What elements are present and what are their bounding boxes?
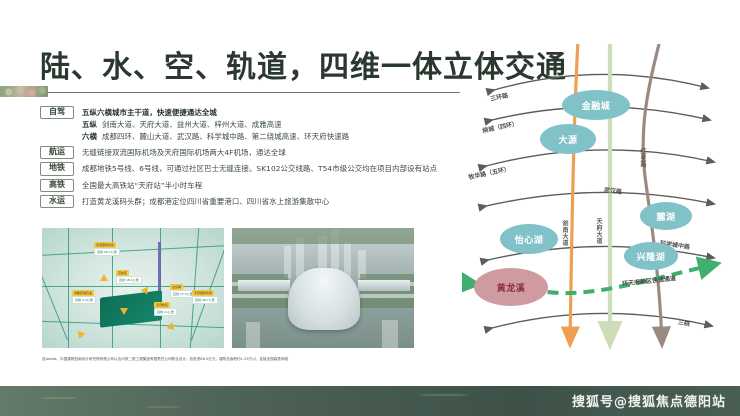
drive-line-2-lead: 五纵 [82, 120, 97, 129]
map-label-jiannan-dadao: 剑南大道 [560, 220, 569, 246]
map-label-hongxing-lu: 红星路 [638, 148, 647, 168]
hsr-line-1: 全国最大高铁站“天府站”半小时车程 [82, 180, 470, 192]
map-label-wuhan-road: 武汉路 [604, 185, 623, 196]
station-terminal-shape [288, 268, 360, 330]
info-row-drive: 自驾 五纵六横城市主干道，快速便捷通达全城 五纵剑南大道、天府大道、益州大道、梓… [40, 106, 470, 143]
tag-hsr: 高铁 [40, 179, 74, 192]
watermark-text: 搜狐号@搜狐焦点德阳站 [572, 391, 726, 410]
drive-line-2: 五纵剑南大道、天府大道、益州大道、梓州大道、成雅高速 [82, 119, 470, 131]
photo-traffic-map: 双流国际机场 直线 26.7公里 高新区 直线 18.1公里 龙泉驿 直线 17… [42, 228, 224, 348]
tag-drive: 自驾 [40, 106, 74, 119]
info-row-water: 水运 打造黄龙溪码头群；成都港定位四川省重要港口、四川省水上旅游集散中心 [40, 195, 470, 208]
decorative-strip [0, 86, 48, 97]
district-dayuan: 大源 [540, 124, 596, 154]
info-row-drive-text: 五纵六横城市主干道，快速便捷通达全城 五纵剑南大道、天府大道、益州大道、梓州大道… [82, 106, 470, 143]
tag-water: 水运 [40, 195, 74, 208]
info-row-hsr: 高铁 全国最大高铁站“天府站”半小时车程 [40, 179, 470, 192]
project-logo-mark [100, 290, 162, 328]
info-row-hsr-text: 全国最大高铁站“天府站”半小时车程 [82, 179, 470, 192]
metro-line-1: 成都地铁5号线、6号线，可通过社区巴士无缝连接。SK102公交线路、T54市级公… [82, 163, 470, 175]
air-line-1: 无缝链接双流国际机场及天府国际机场两大4F机场，通达全球 [82, 147, 470, 159]
drive-line-2-body: 剑南大道、天府大道、益州大道、梓州大道、成雅高速 [102, 120, 282, 129]
info-row-metro-text: 成都地铁5号线、6号线，可通过社区巴士无缝连接。SK102公交线路、T54市级公… [82, 162, 470, 175]
drive-line-3-body: 成都四环、麓山大道、武汉路、科学城中路、第二绕城高速、环天府快速路 [102, 132, 349, 141]
info-row-air: 航运 无缝链接双流国际机场及天府国际机场两大4F机场，通达全球 [40, 146, 470, 159]
info-row-metro: 地铁 成都地铁5号线、6号线，可通过社区巴士无缝连接。SK102公交线路、T54… [40, 162, 470, 175]
water-line-1: 打造黄龙溪码头群；成都港定位四川省重要港口、四川省水上旅游集散中心 [82, 196, 470, 208]
title-divider [40, 92, 460, 93]
info-row-water-text: 打造黄龙溪码头群；成都港定位四川省重要港口、四川省水上旅游集散中心 [82, 195, 470, 208]
map-label-tianfu-dadao: 天府大道 [594, 218, 603, 244]
transport-info-list: 自驾 五纵六横城市主干道，快速便捷通达全城 五纵剑南大道、天府大道、益州大道、梓… [40, 106, 470, 211]
drive-line-3-lead: 六横 [82, 132, 97, 141]
drive-line-1: 五纵六横城市主干道，快速便捷通达全城 [82, 107, 470, 119]
district-jinrongcheng: 金融城 [562, 90, 630, 120]
district-huanglongxi: 黄龙溪 [474, 268, 548, 306]
map-label-ring3rd-outer: 三绕 [677, 317, 690, 328]
info-row-air-text: 无缝链接双流国际机场及天府国际机场两大4F机场，通达全球 [82, 146, 470, 159]
photo-caption: 自Aedas、中国建筑西南设计研究院有限公司以及中铁二院工程集团有限责任公司联合… [42, 356, 422, 362]
district-xinglonghu: 兴隆湖 [624, 242, 678, 270]
district-yixinhu: 怡心湖 [500, 224, 558, 254]
photo-station-render [232, 228, 414, 348]
region-schematic-map: 三环路 绕城（四环） 牧华路（五环） 武汉路 科学城中路 三绕 环天府新区快速通… [462, 44, 740, 384]
tag-air: 航运 [40, 146, 74, 159]
drive-line-3: 六横成都四环、麓山大道、武汉路、科学城中路、第二绕城高速、环天府快速路 [82, 131, 470, 143]
slide-canvas: 陆、水、空、轨道，四维一体立体交通 自驾 五纵六横城市主干道，快速便捷通达全城 … [0, 0, 740, 416]
district-luhu: 麓湖 [640, 202, 692, 230]
tag-metro: 地铁 [40, 162, 74, 175]
